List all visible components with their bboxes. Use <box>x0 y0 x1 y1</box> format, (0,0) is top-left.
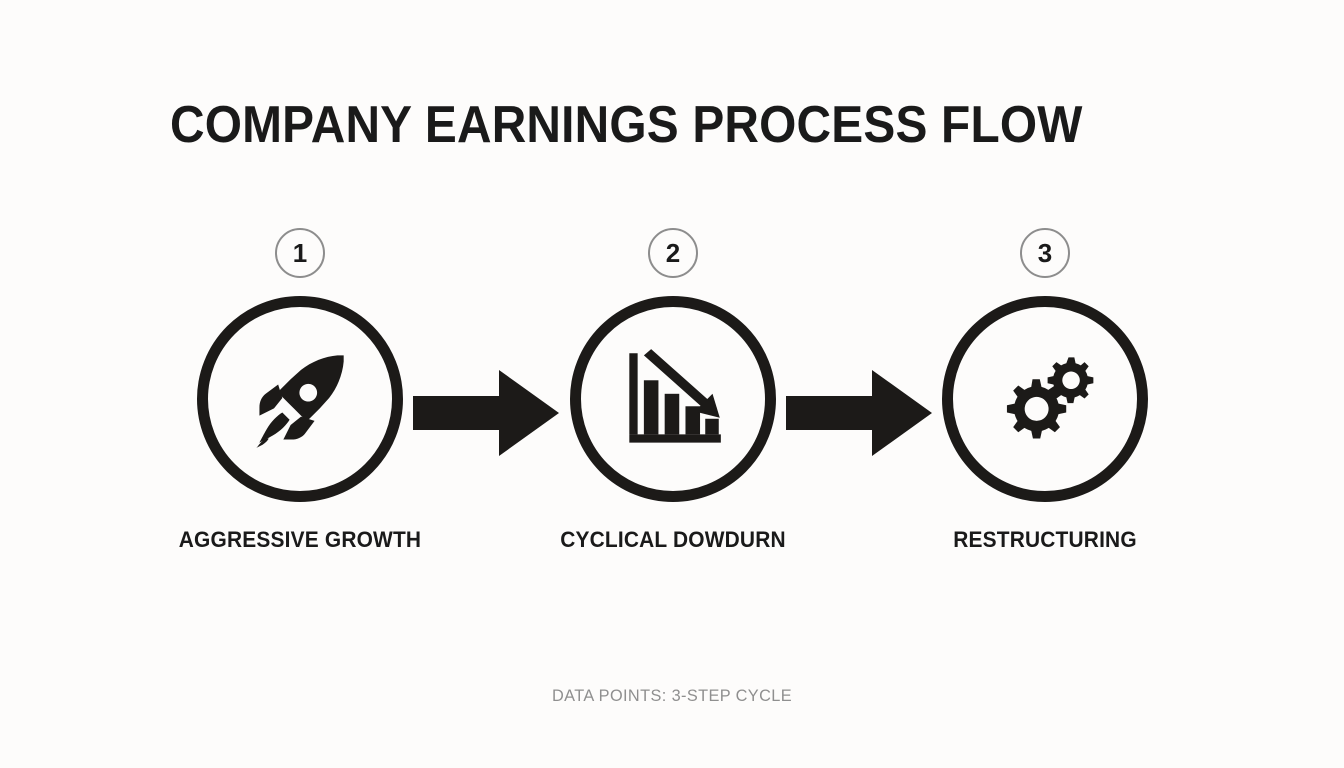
gears-icon <box>993 347 1097 451</box>
step-number-badge-3: 3 <box>1020 228 1070 278</box>
step-icon-circle-3[interactable] <box>942 296 1148 502</box>
process-step-3[interactable]: 3 RESTRUCTURING <box>915 228 1175 553</box>
step-number-badge-1: 1 <box>275 228 325 278</box>
step-number-1: 1 <box>293 238 307 269</box>
arrow-right-icon <box>413 370 559 456</box>
step-label-1: AGGRESSIVE GROWTH <box>177 527 424 553</box>
step-icon-circle-2[interactable] <box>570 296 776 502</box>
process-step-2[interactable]: 2 CYCLICAL DOWDURN <box>543 228 803 553</box>
step-number-2: 2 <box>666 238 680 269</box>
slide-canvas: COMPANY EARNINGS PROCESS FLOW 1 AGGRESSI… <box>0 0 1344 768</box>
step-label-2: CYCLICAL DOWDURN <box>550 527 797 553</box>
step-number-3: 3 <box>1038 238 1052 269</box>
connector-arrow-2 <box>786 370 932 456</box>
process-flow: 1 AGGRESSIVE GROWTH 2 <box>0 228 1344 588</box>
footer-caption: DATA POINTS: 3-STEP CYCLE <box>27 686 1317 706</box>
step-number-badge-2: 2 <box>648 228 698 278</box>
connector-arrow-1 <box>413 370 559 456</box>
declining-bar-chart-icon <box>621 347 725 451</box>
process-step-1[interactable]: 1 AGGRESSIVE GROWTH <box>170 228 430 553</box>
rocket-icon <box>248 347 352 451</box>
arrow-right-icon <box>786 370 932 456</box>
step-icon-circle-1[interactable] <box>197 296 403 502</box>
step-label-3: RESTRUCTURING <box>922 527 1169 553</box>
page-title: COMPANY EARNINGS PROCESS FLOW <box>170 96 1083 154</box>
